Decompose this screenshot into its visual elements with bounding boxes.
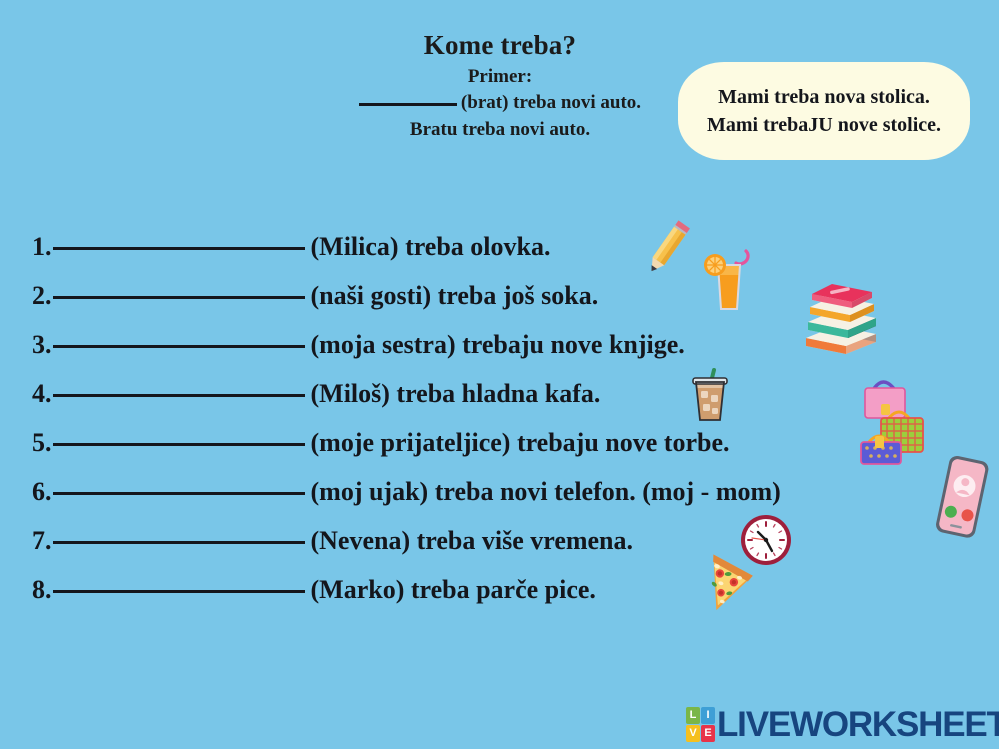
item-number: 3. (32, 320, 52, 369)
exercise-row: 7.(Nevena) treba više vremena. (32, 516, 972, 565)
liveworksheets-logo[interactable]: L I V E LIVEWORKSHEETS (686, 702, 999, 746)
exercise-row: 3.(moja sestra) trebaju nove knjige. (32, 320, 972, 369)
answer-blank-8[interactable] (53, 590, 305, 593)
logo-tile-v: V (686, 725, 700, 742)
item-number: 5. (32, 418, 52, 467)
rule-callout-box: Mami treba nova stolica. Mami trebaJU no… (678, 62, 970, 160)
answer-blank-5[interactable] (53, 443, 305, 446)
example-label: Primer: (330, 65, 670, 89)
answer-blank-4[interactable] (53, 394, 305, 397)
logo-tile-i: I (701, 707, 715, 724)
logo-wordmark: LIVEWORKSHEETS (717, 707, 999, 742)
answer-blank-1[interactable] (53, 247, 305, 250)
item-sentence: (Miloš) treba hladna kafa. (311, 369, 601, 418)
example-answer: Bratu treba novi auto. (330, 117, 670, 143)
callout-line-2: Mami trebaJU nove stolice. (707, 111, 941, 139)
item-sentence: (Milica) treba olovka. (311, 222, 551, 271)
exercise-row: 5.(moje prijateljice) trebaju nove torbe… (32, 418, 972, 467)
item-sentence: (moj ujak) treba novi telefon. (moj - mo… (311, 467, 781, 516)
answer-blank-7[interactable] (53, 541, 305, 544)
item-number: 6. (32, 467, 52, 516)
exercise-row: 2.(naši gosti) treba još soka. (32, 271, 972, 320)
item-sentence: (moja sestra) trebaju nove knjige. (311, 320, 685, 369)
answer-blank-2[interactable] (53, 296, 305, 299)
item-number: 1. (32, 222, 52, 271)
item-number: 7. (32, 516, 52, 565)
example-prompt-text: (brat) treba novi auto. (461, 92, 641, 113)
page-title: Kome treba? (330, 30, 670, 61)
item-sentence: (moje prijateljice) trebaju nove torbe. (311, 418, 730, 467)
item-number: 8. (32, 565, 52, 614)
example-blank-line (359, 103, 457, 106)
item-sentence: (Marko) treba parče pice. (311, 565, 596, 614)
item-number: 2. (32, 271, 52, 320)
exercise-row: 8.(Marko) treba parče pice. (32, 565, 972, 614)
item-number: 4. (32, 369, 52, 418)
exercise-list: 1.(Milica) treba olovka. 2.(naši gosti) … (32, 222, 972, 614)
answer-blank-6[interactable] (53, 492, 305, 495)
exercise-row: 1.(Milica) treba olovka. (32, 222, 972, 271)
answer-blank-3[interactable] (53, 345, 305, 348)
item-sentence: (naši gosti) treba još soka. (311, 271, 599, 320)
example-prompt-line: (brat) treba novi auto. (330, 91, 670, 116)
exercise-row: 6.(moj ujak) treba novi telefon. (moj - … (32, 467, 972, 516)
worksheet-header: Kome treba? Primer: (brat) treba novi au… (330, 30, 670, 143)
item-sentence: (Nevena) treba više vremena. (311, 516, 634, 565)
worksheet-page: Kome treba? Primer: (brat) treba novi au… (0, 0, 999, 749)
exercise-row: 4.(Miloš) treba hladna kafa. (32, 369, 972, 418)
logo-tile-l: L (686, 707, 700, 724)
logo-tiles: L I V E (686, 707, 715, 742)
logo-tile-e: E (701, 725, 715, 742)
callout-line-1: Mami treba nova stolica. (718, 83, 930, 111)
